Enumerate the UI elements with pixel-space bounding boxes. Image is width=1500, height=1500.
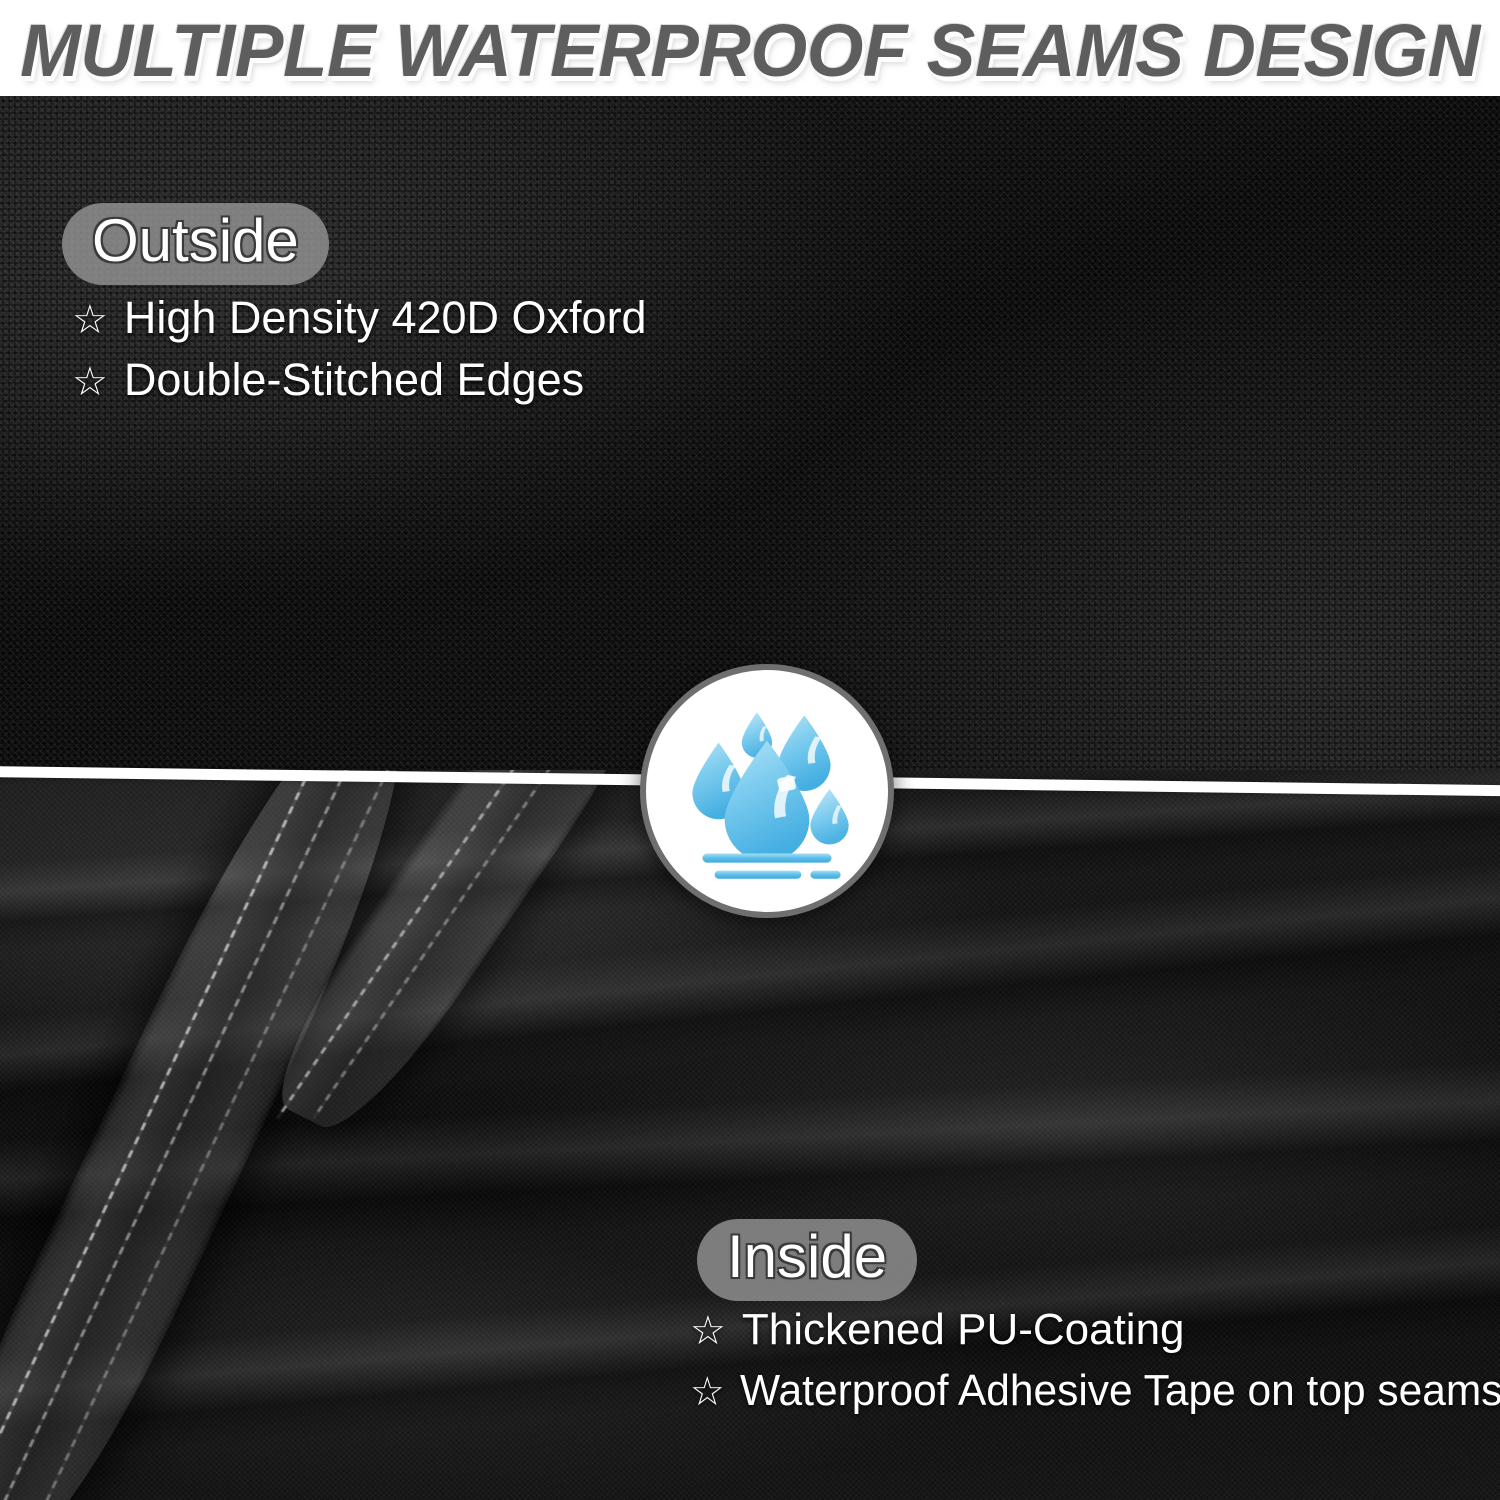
diagonal-seam-band	[0, 572, 1247, 794]
inside-badge-label: Inside	[727, 1225, 887, 1289]
star-icon: ☆	[690, 1301, 726, 1361]
star-icon: ☆	[72, 352, 108, 412]
list-item-label: Waterproof Adhesive Tape on top seams	[740, 1361, 1500, 1421]
list-item: ☆ High Density 420D Oxford	[72, 288, 647, 350]
droplet-lower-right	[810, 789, 848, 844]
waterproof-badge	[640, 664, 894, 918]
inside-feature-list: ☆ Thickened PU-Coating ☆ Waterproof Adhe…	[690, 1300, 1500, 1422]
star-icon: ☆	[690, 1362, 725, 1422]
outside-feature-list: ☆ High Density 420D Oxford ☆ Double-Stit…	[72, 288, 647, 412]
product-infographic-poster: MULTIPLE WATERPROOF SEAMS DESIGN Outside…	[0, 0, 1500, 1500]
inside-badge: Inside	[697, 1219, 917, 1301]
water-surface-bars	[702, 854, 840, 879]
list-item: ☆ Waterproof Adhesive Tape on top seams	[690, 1361, 1500, 1422]
list-item-label: Thickened PU-Coating	[742, 1300, 1185, 1360]
header-band: MULTIPLE WATERPROOF SEAMS DESIGN	[0, 0, 1500, 96]
outside-badge-label: Outside	[92, 209, 299, 273]
list-item-label: Double-Stitched Edges	[124, 350, 584, 410]
page-title: MULTIPLE WATERPROOF SEAMS DESIGN	[20, 8, 1480, 88]
outside-badge: Outside	[62, 203, 329, 285]
water-droplets-icon	[646, 670, 888, 912]
star-icon: ☆	[72, 290, 108, 350]
list-item-label: High Density 420D Oxford	[124, 288, 647, 348]
list-item: ☆ Double-Stitched Edges	[72, 350, 647, 412]
list-item: ☆ Thickened PU-Coating	[690, 1300, 1500, 1361]
seam-stitch-line	[0, 592, 1234, 794]
waterproof-adhesive-tape-seam	[0, 770, 447, 1500]
